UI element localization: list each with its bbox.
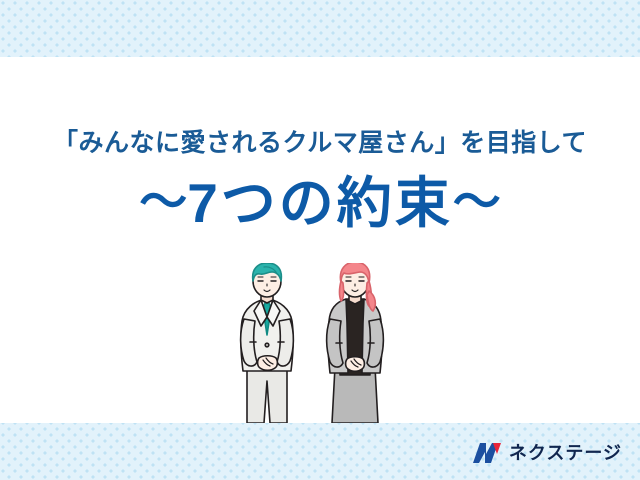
male-staff-figure	[241, 263, 294, 423]
staff-illustration	[0, 263, 640, 423]
female-staff-figure	[327, 263, 384, 423]
nextage-logo: ネクステージ	[472, 439, 622, 467]
nextage-n-mark-icon	[472, 442, 502, 464]
content-panel: 「みんなに愛されるクルマ屋さん」を目指して 〜7つの約束〜	[0, 57, 640, 423]
nextage-logo-text: ネクステージ	[509, 444, 622, 462]
subheadline-text: 7つの約束	[187, 172, 453, 234]
tilde-left: 〜	[139, 175, 187, 230]
page-subheadline: 〜7つの約束〜	[0, 172, 640, 235]
tilde-right: 〜	[453, 175, 501, 230]
promise-banner: 「みんなに愛されるクルマ屋さん」を目指して 〜7つの約束〜	[0, 0, 640, 480]
staff-illustration-svg	[220, 263, 420, 423]
page-headline: 「みんなに愛されるクルマ屋さん」を目指して	[0, 130, 640, 158]
